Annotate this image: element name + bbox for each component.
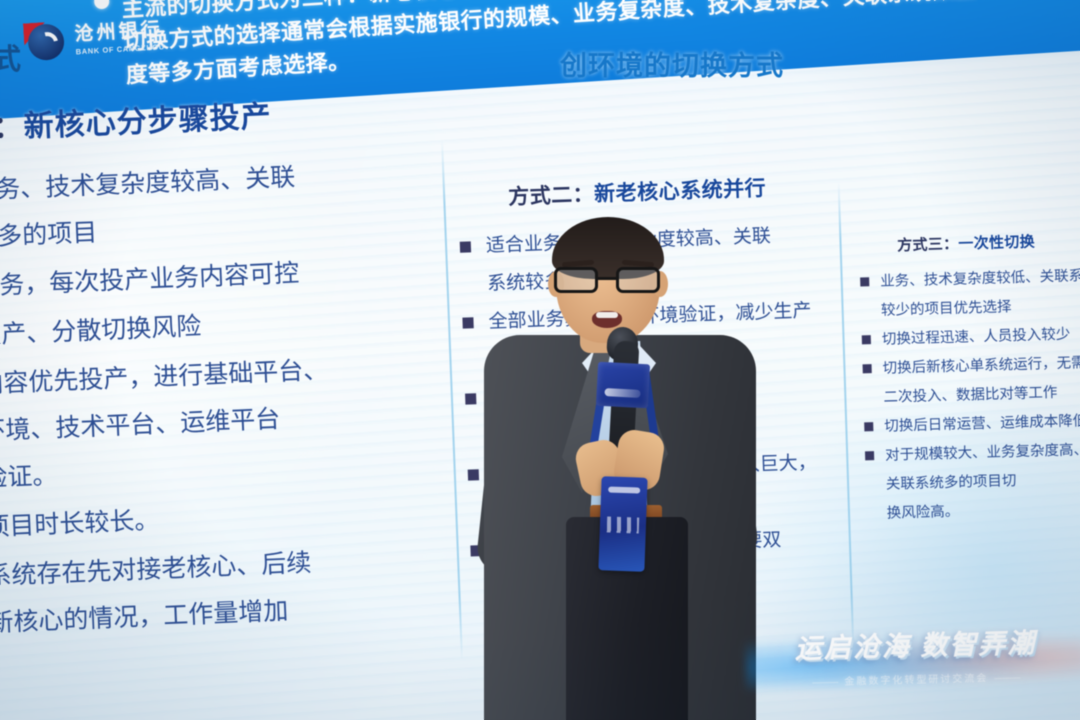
speaker-figure <box>470 215 770 720</box>
bullet-text: 部分内容优先投产，进行基础平台、 硬件环境、技术平台、运维平台 生产验证。 <box>0 356 329 495</box>
bullet-square-icon <box>865 451 874 460</box>
glasses-lens-right <box>616 267 660 293</box>
slide-column-one: 方式一：新核心分步骤投产 适合业务、技术复杂度较高、关联 系统较多的项目 拆分业… <box>0 85 453 654</box>
column-three-heading-main: 一次性切换 <box>958 234 1035 253</box>
bullet-text: 业务、技术复杂度较低、关联系统 较少的项目优先选择 <box>880 268 1080 319</box>
event-slogan: 运启沧海 数智弄潮 <box>765 620 1066 666</box>
glasses-icon <box>554 267 664 293</box>
microphone-flag-badge <box>596 362 650 409</box>
speaker-mouth <box>592 311 622 328</box>
column-three-bullets: 业务、技术复杂度较低、关联系统 较少的项目优先选择 切换过程迅速、人员投入较少 … <box>852 261 1080 529</box>
list-item: 对于规模较大、业务复杂度高、 关联系统多的项目切 换风险高。 <box>857 435 1080 529</box>
bullet-text: 部分系统存在先对接老核心、后续 对接新核心的情况，工作量增加 <box>0 549 312 640</box>
bullet-square-icon <box>864 422 873 431</box>
bullet-text: 整体项目时长较长。 <box>0 506 160 543</box>
bullet-square-icon <box>860 277 869 286</box>
event-lockup: 运启沧海 数智弄潮 金融数字化转型研讨交流会 <box>765 620 1067 709</box>
event-rule-right <box>994 677 1020 679</box>
photo-frame: 主流的切换方式为三种：新老核心系统并行使用、新核心分步骤投产、一次性切换、 切换… <box>0 0 1080 720</box>
column-one-heading: 方式一：新核心分步骤投产 <box>0 85 432 151</box>
bullet-text: 拆分业务，每次投产业务内容可控 <box>0 259 300 303</box>
column-one-bullets: 适合业务、技术复杂度较高、关联 系统较多的项目 拆分业务，每次投产业务内容可控 … <box>0 148 453 651</box>
list-item: 业务、技术复杂度较低、关联系统 较少的项目优先选择 <box>852 261 1080 326</box>
glasses-bridge <box>598 277 616 280</box>
bullet-text: 多次投产、分散切换风险 <box>0 312 202 351</box>
bullet-text: 切换过程迅速、人员投入较少 <box>882 327 1071 348</box>
event-subtitle: 金融数字化转型研讨交流会 <box>844 673 988 688</box>
column-one-heading-prefix: 方式一： <box>0 111 24 149</box>
column-three-heading-prefix: 方式三： <box>897 236 959 255</box>
bullet-text: 切换后新核心单系统运行，无需 二次投入、数据比对等工作 <box>882 355 1080 406</box>
slide-column-three: 方式三：一次性切换 业务、技术复杂度较低、关联系统 较少的项目优先选择 切换过程… <box>851 228 1080 529</box>
list-item: 部分内容优先投产，进行基础平台、 硬件环境、技术平台、运维平台 生产验证。 <box>0 342 447 506</box>
column-two-heading-prefix: 方式二： <box>508 183 595 209</box>
bullet-square-icon <box>862 335 871 344</box>
event-rule-left <box>812 682 838 684</box>
column-three-heading: 方式三：一次性切换 <box>897 228 1080 255</box>
event-subtitle-row: 金融数字化转型研讨交流会 <box>766 667 1066 689</box>
conference-badge <box>598 476 647 572</box>
column-two-heading-main: 新老核心系统并行 <box>594 177 767 206</box>
bullet-text: 适合业务、技术复杂度较高、关联 系统较多的项目 <box>0 163 296 254</box>
glasses-lens-left <box>554 267 598 293</box>
bullet-square-icon <box>863 364 872 373</box>
column-two-heading: 方式二：新老核心系统并行 <box>508 169 849 211</box>
list-item: 部分系统存在先对接老核心、后续 对接新核心的情况，工作量增加 <box>0 534 453 651</box>
bullet-text: 切换后日常运营、运维成本降低 <box>884 413 1080 435</box>
bullet-text: 对于规模较大、业务复杂度高、 关联系统多的项目切 换风险高。 <box>885 442 1080 522</box>
column-one-heading-main: 新核心分步骤投产 <box>23 100 272 143</box>
list-item: 切换后新核心单系统运行，无需 二次投入、数据比对等工作 <box>854 348 1080 413</box>
